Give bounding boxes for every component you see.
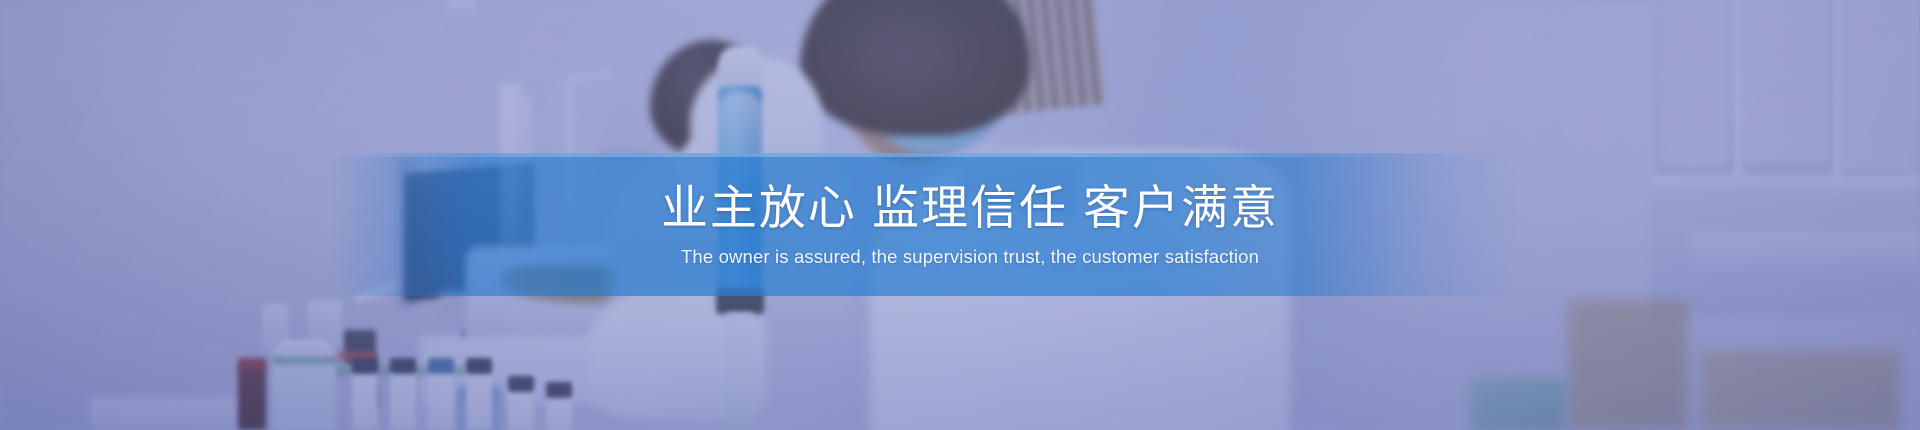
banner-subline: The owner is assured, the supervision tr…: [681, 246, 1259, 268]
banner-headline: 业主放心 监理信任 客户满意: [661, 181, 1279, 235]
hero-banner: 业主放心 监理信任 客户满意 The owner is assured, the…: [0, 0, 1920, 430]
banner-text-block: 业主放心 监理信任 客户满意 The owner is assured, the…: [0, 153, 1920, 296]
